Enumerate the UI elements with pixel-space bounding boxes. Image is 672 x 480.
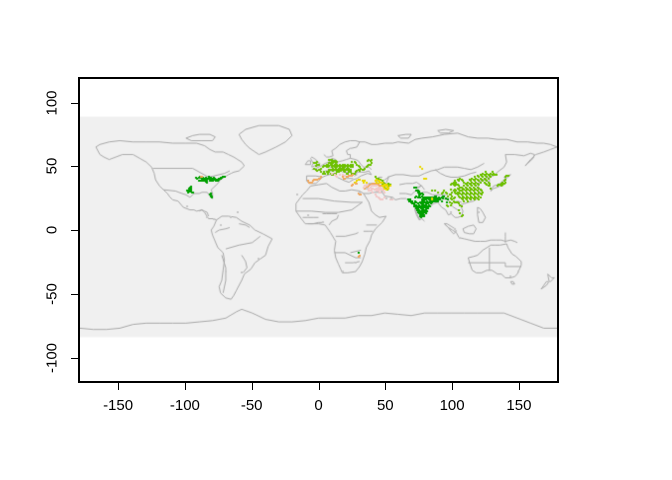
x-tick-label: 50 [377, 398, 394, 413]
x-tick-mark [319, 383, 320, 390]
y-tick-label: -100 [45, 342, 60, 372]
x-tick-label: 0 [314, 398, 322, 413]
y-tick-mark [71, 294, 78, 295]
x-tick-mark [185, 383, 186, 390]
x-tick-label: -150 [103, 398, 133, 413]
x-tick-mark [452, 383, 453, 390]
x-tick-label: -50 [241, 398, 263, 413]
plot-panel [78, 77, 559, 383]
world-map-scatter-canvas [80, 79, 557, 381]
y-tick-mark [71, 166, 78, 167]
y-tick-label: -50 [45, 283, 60, 305]
x-tick-label: 150 [506, 398, 531, 413]
x-tick-mark [118, 383, 119, 390]
plot-root: -150-100-50050100150 100500-50-100 [0, 0, 672, 480]
y-tick-label: 50 [45, 158, 60, 175]
x-tick-mark [252, 383, 253, 390]
x-tick-label: -100 [170, 398, 200, 413]
x-tick-mark [385, 383, 386, 390]
x-tick-label: 100 [440, 398, 465, 413]
y-tick-label: 100 [45, 90, 60, 115]
y-tick-mark [71, 230, 78, 231]
y-tick-label: 0 [45, 226, 60, 234]
y-tick-mark [71, 103, 78, 104]
y-tick-mark [71, 358, 78, 359]
x-tick-mark [519, 383, 520, 390]
